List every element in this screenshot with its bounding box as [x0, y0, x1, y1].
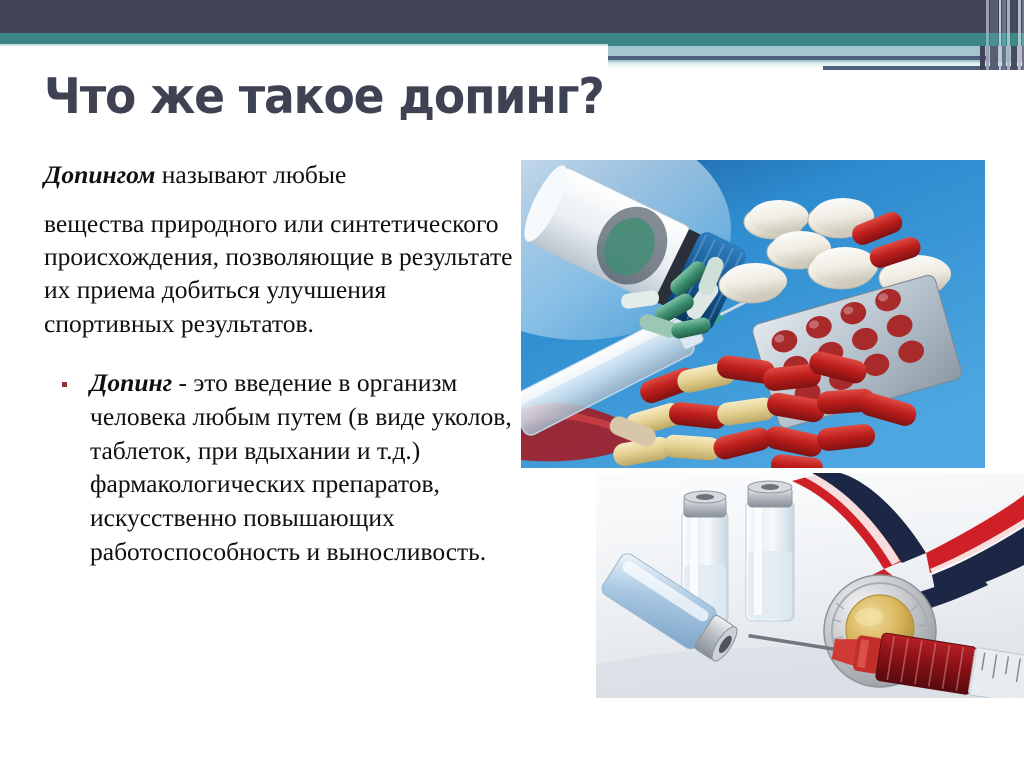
header-dark-band	[0, 0, 1024, 33]
slide-title: Что же такое допинг?	[44, 68, 604, 125]
term-doping: Допинг	[90, 368, 172, 397]
paragraph-1-rest: называют любые	[155, 160, 346, 189]
header-stripe-teal	[980, 33, 985, 46]
header-stripe-teal	[990, 33, 998, 46]
paragraph-definition-intro: Допингом называют любые	[44, 158, 514, 191]
header-rule-upper	[608, 56, 986, 60]
header-left-notch	[0, 46, 608, 70]
pills-photo-illustration	[521, 160, 985, 468]
header-stripe-teal	[986, 33, 989, 46]
bullet-item-text: Допинг - это введение в организм человек…	[90, 368, 512, 567]
header-stripe-teal	[999, 33, 1001, 46]
vials-medal-syringe-photo	[596, 473, 1024, 698]
medal-photo-illustration	[596, 473, 1024, 698]
slide-root: Что же такое допинг? Допингом называют л…	[0, 0, 1024, 768]
header-stripe-teal	[1011, 33, 1017, 46]
header-stripe-teal	[1007, 33, 1010, 46]
header-stripe-teal	[1018, 33, 1021, 46]
square-bullet-icon	[62, 382, 67, 387]
paragraph-definition-body: вещества природного или синтетического п…	[44, 207, 514, 340]
header-stripe-cluster	[980, 0, 1024, 70]
term-dopingom: Допингом	[44, 160, 155, 189]
bullet-1-rest: - это введение в организм человека любым…	[90, 368, 512, 567]
header-stripe-teal	[1002, 33, 1006, 46]
pills-capsules-syringe-photo	[521, 160, 985, 468]
slide-body-text: Допингом называют любые вещества природн…	[44, 158, 514, 569]
bullet-item-doping: Допинг - это введение в организм человек…	[44, 366, 514, 569]
